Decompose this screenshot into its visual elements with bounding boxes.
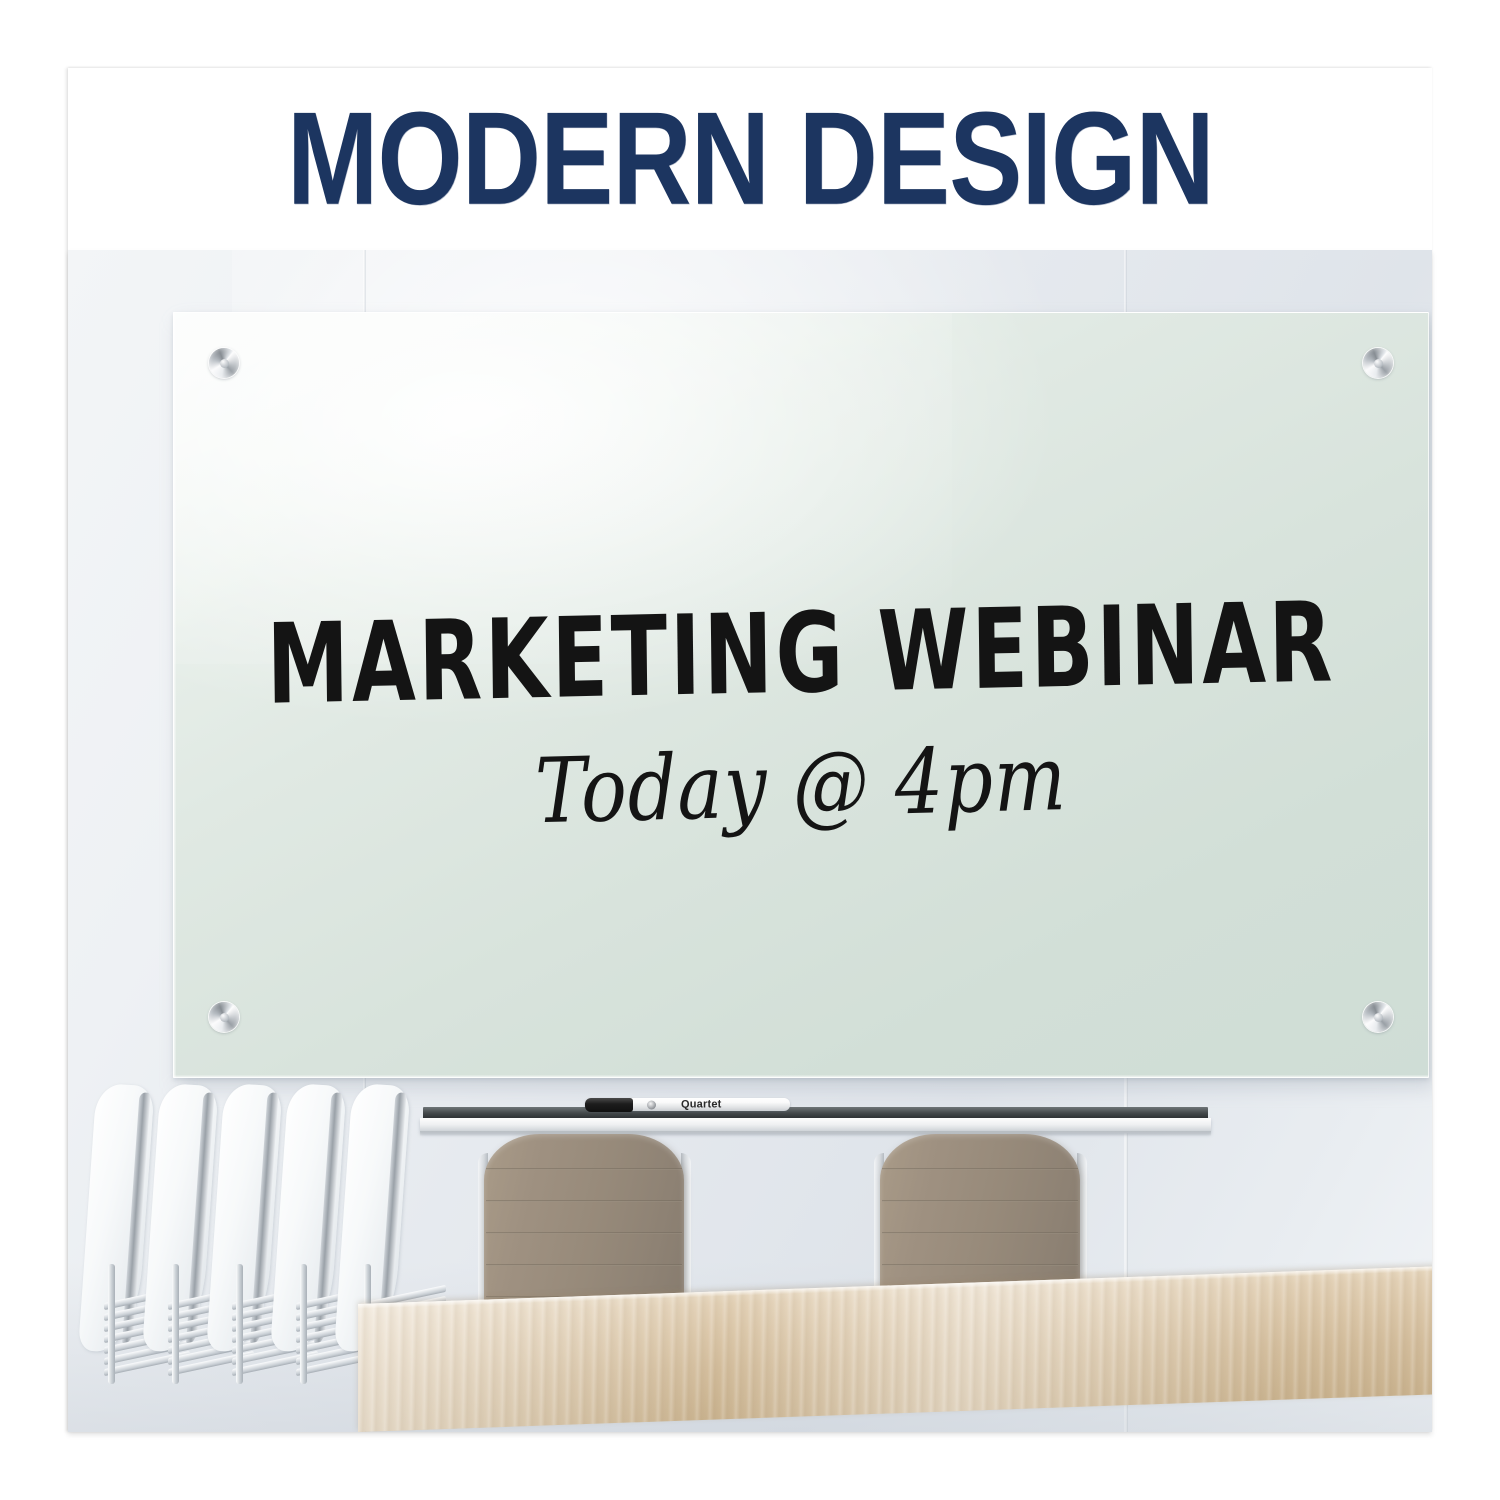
- glass-whiteboard: MARKETING WEBINAR Today @ 4pm Quartet: [173, 312, 1429, 1078]
- stacking-chair-leg: [300, 1264, 307, 1384]
- executive-chair-rib: [882, 1232, 1078, 1234]
- handwriting-line-2: Today @ 4pm: [173, 725, 1429, 846]
- marker-logo-icon: [647, 1100, 656, 1109]
- executive-chair-rib: [486, 1168, 682, 1170]
- standoff-screw-icon-top-left: [209, 348, 239, 378]
- executive-chair-rib: [882, 1264, 1078, 1266]
- stacking-chair-leg: [172, 1264, 179, 1384]
- whiteboard-glass-surface: MARKETING WEBINAR Today @ 4pm: [173, 312, 1429, 1078]
- pen-tray: [423, 1107, 1208, 1137]
- dry-erase-marker: Quartet: [585, 1098, 790, 1111]
- pen-tray-shadow-lip: [423, 1107, 1208, 1118]
- standoff-screw-icon-bottom-left: [209, 1002, 239, 1032]
- standoff-screw-icon-bottom-right: [1363, 1002, 1393, 1032]
- executive-chair-rib: [486, 1264, 682, 1266]
- executive-chair-rib: [882, 1168, 1078, 1170]
- standoff-screw-icon-top-right: [1363, 348, 1393, 378]
- whiteboard-handwriting: MARKETING WEBINAR Today @ 4pm: [173, 612, 1429, 823]
- white-card-frame: MODERN DESIGN: [68, 68, 1432, 1432]
- product-image-page: MODERN DESIGN: [0, 0, 1500, 1500]
- executive-chair-rib: [486, 1200, 682, 1202]
- marker-cap: [585, 1098, 633, 1112]
- marker-brand-label: Quartet: [681, 1099, 722, 1110]
- product-photo: MARKETING WEBINAR Today @ 4pm Quartet: [68, 250, 1432, 1432]
- stacking-chair-leg: [108, 1264, 115, 1384]
- executive-chair-rib: [486, 1232, 682, 1234]
- executive-chair-rib: [882, 1200, 1078, 1202]
- stacking-chair-leg: [236, 1264, 243, 1384]
- handwriting-line-1: MARKETING WEBINAR: [191, 586, 1410, 722]
- header-banner: MODERN DESIGN: [68, 68, 1432, 250]
- glass-edge-bottom: [173, 1075, 1429, 1078]
- page-title: MODERN DESIGN: [287, 93, 1214, 225]
